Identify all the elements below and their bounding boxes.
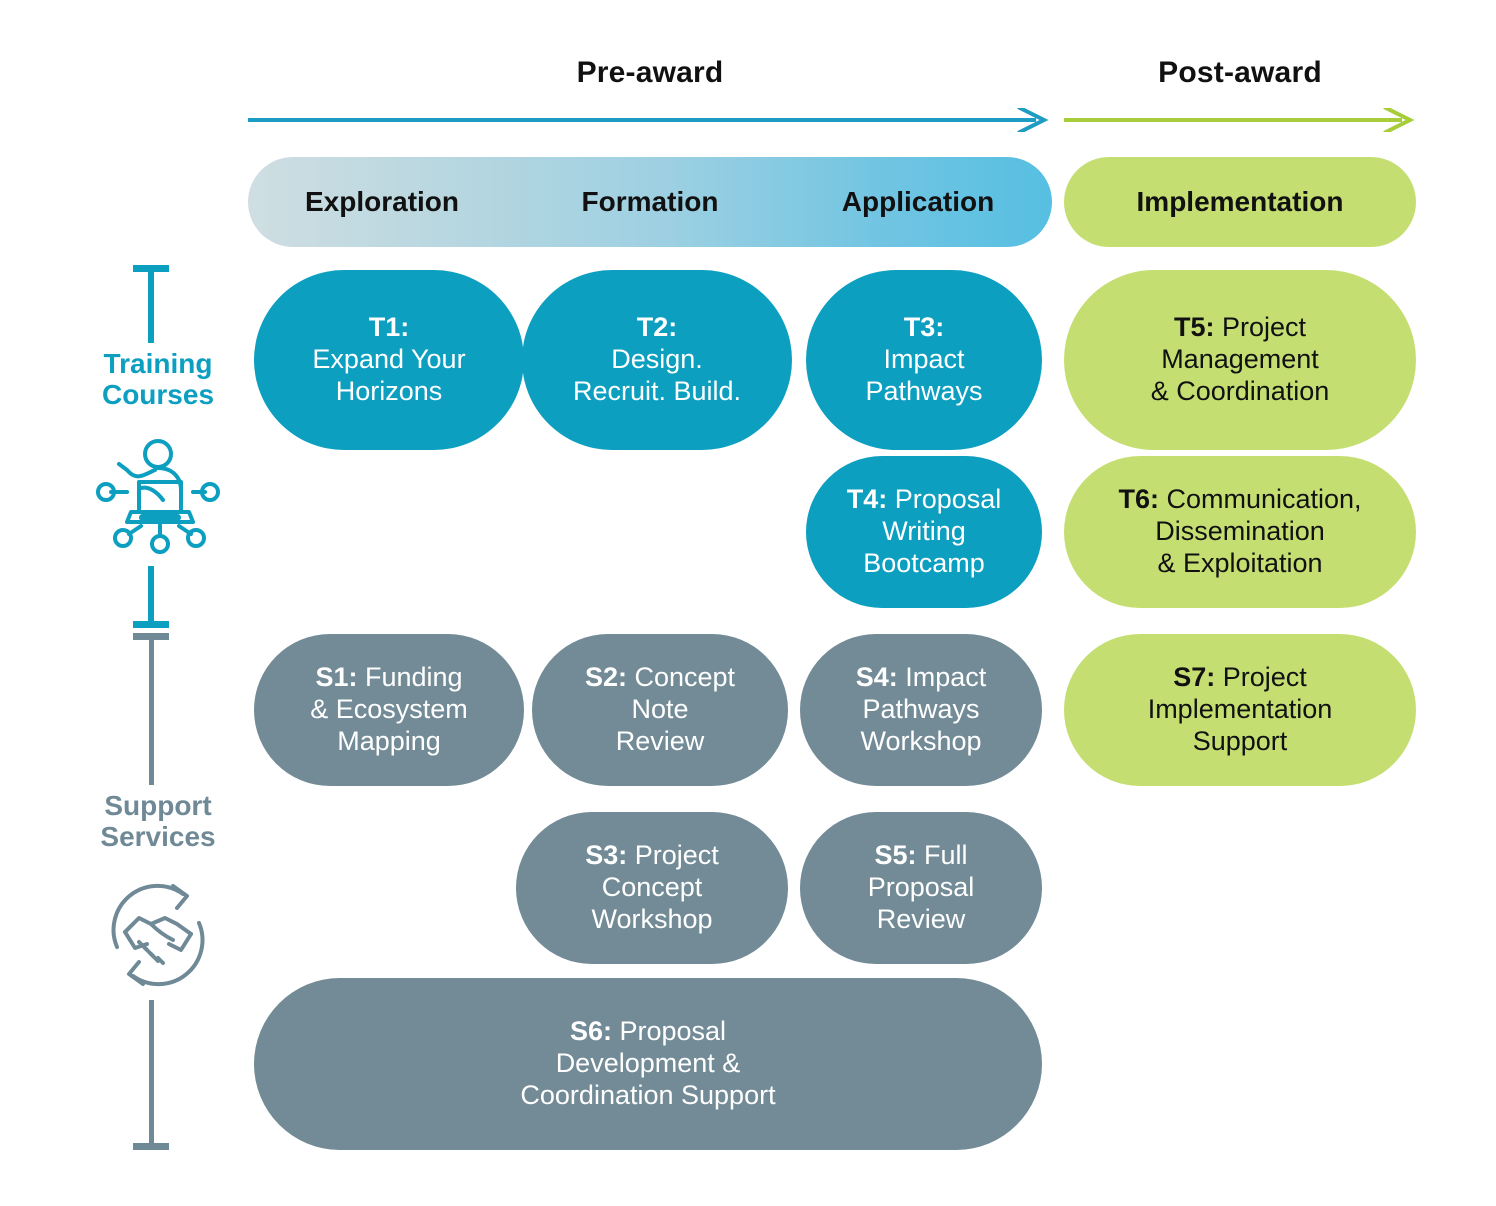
card-t5-line1-rest: Project (1222, 312, 1306, 342)
card-s4-line2: Pathways (862, 694, 979, 724)
card-t5-line2: Management (1161, 344, 1319, 374)
card-s1-line1: S1: Funding (315, 662, 462, 692)
card-t1-code: T1: (369, 312, 410, 342)
training-rail-bottom-cap (133, 621, 169, 628)
pre-award-arrow (248, 108, 1052, 132)
rail-label-training: Training Courses (58, 348, 258, 411)
rail-label-training-line1: Training (104, 348, 213, 379)
rail-label-support-line1: Support (104, 790, 211, 821)
rail-label-support: Support Services (58, 790, 258, 853)
card-s2-line2: Note (631, 694, 688, 724)
phase-label-application[interactable]: Application (784, 157, 1052, 247)
card-t4[interactable]: T4: Proposal Writing Bootcamp (806, 456, 1042, 608)
card-t2-code: T2: (637, 312, 678, 342)
card-t1[interactable]: T1: Expand Your Horizons (254, 270, 524, 450)
phase-label-exploration[interactable]: Exploration (248, 157, 516, 247)
pre-award-label: Pre-award (248, 56, 1052, 90)
card-s7-line2: Implementation (1148, 694, 1333, 724)
post-award-label: Post-award (1064, 56, 1416, 90)
card-s3[interactable]: S3: Project Concept Workshop (516, 812, 788, 964)
card-s6-line3: Coordination Support (520, 1080, 775, 1110)
card-t1-line2: Expand Your (312, 344, 465, 374)
card-t2-line2: Design. (611, 344, 703, 374)
card-s6-line1: S6: Proposal (570, 1016, 726, 1046)
card-s5-line3: Review (877, 904, 966, 934)
card-t3-code: T3: (904, 312, 945, 342)
card-s3-line1: S3: Project (585, 840, 719, 870)
rail-label-training-line2: Courses (102, 379, 214, 410)
phase-label-implementation[interactable]: Implementation (1064, 157, 1416, 247)
card-s5-line1: S5: Full (874, 840, 967, 870)
card-s3-line2: Concept (602, 872, 703, 902)
training-person-laptop-network-icon (95, 430, 221, 556)
card-s3-line3: Workshop (591, 904, 712, 934)
phase-label-formation[interactable]: Formation (516, 157, 784, 247)
card-s5[interactable]: S5: Full Proposal Review (800, 812, 1042, 964)
card-s4-line1: S4: Impact (856, 662, 987, 692)
card-s1-line3: Mapping (337, 726, 441, 756)
card-t4-line1: T4: Proposal (847, 484, 1002, 514)
post-award-arrow (1064, 108, 1416, 132)
card-t4-line2: Writing (882, 516, 966, 546)
card-t4-line3: Bootcamp (863, 548, 985, 578)
card-s4-line3: Workshop (860, 726, 981, 756)
card-t6-line1: T6: Communication, (1118, 484, 1361, 514)
phase-bar-pre-award: Exploration Formation Application (248, 157, 1052, 247)
support-rail-bottom-cap (133, 1143, 169, 1150)
support-rail-line-bottom (149, 1000, 154, 1150)
support-rail-line-top (149, 633, 154, 785)
card-t6-line3: & Exploitation (1157, 548, 1322, 578)
card-t5-line1: T5: T5: Project (1174, 312, 1222, 342)
card-s7-line1: S7: Project (1173, 662, 1307, 692)
card-s7-line3: Support (1193, 726, 1288, 756)
diagram-canvas: Pre-award Post-award Exploration Formati… (0, 0, 1496, 1206)
card-t3-line2: Impact (883, 344, 964, 374)
card-t3[interactable]: T3: Impact Pathways (806, 270, 1042, 450)
card-s7[interactable]: S7: Project Implementation Support (1064, 634, 1416, 786)
card-t5[interactable]: T5: T5: Project Project Management & Coo… (1064, 270, 1416, 450)
training-rail-line-bottom (148, 566, 154, 626)
card-t3-line3: Pathways (865, 376, 982, 406)
card-s5-line2: Proposal (868, 872, 975, 902)
card-t5-line3: & Coordination (1151, 376, 1330, 406)
rail-label-support-line2: Services (100, 821, 215, 852)
card-s4[interactable]: S4: Impact Pathways Workshop (800, 634, 1042, 786)
card-t6[interactable]: T6: Communication, Dissemination & Explo… (1064, 456, 1416, 608)
card-s6[interactable]: S6: Proposal Development & Coordination … (254, 978, 1042, 1150)
card-s2-line3: Review (616, 726, 705, 756)
card-t2[interactable]: T2: Design. Recruit. Build. (522, 270, 792, 450)
training-rail-line-top (148, 265, 154, 343)
card-s2-line1: S2: Concept (585, 662, 735, 692)
card-s6-line2: Development & (556, 1048, 741, 1078)
card-t1-line3: Horizons (336, 376, 443, 406)
card-s1-line2: & Ecosystem (310, 694, 468, 724)
handshake-cycle-icon (95, 872, 221, 998)
card-s1[interactable]: S1: Funding & Ecosystem Mapping (254, 634, 524, 786)
card-t6-line2: Dissemination (1155, 516, 1325, 546)
card-s2[interactable]: S2: Concept Note Review (532, 634, 788, 786)
card-t2-line3: Recruit. Build. (573, 376, 741, 406)
